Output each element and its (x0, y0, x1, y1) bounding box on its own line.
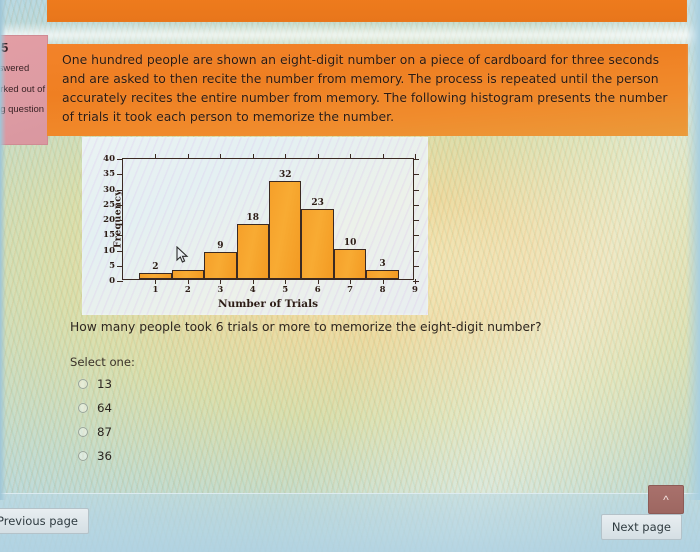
y-tick-label: 25 (103, 200, 115, 210)
previous-question-block (47, 0, 687, 22)
y-tick (117, 190, 123, 191)
x-tick-label: 1 (152, 285, 158, 295)
x-tick (415, 279, 416, 284)
y-tick (117, 235, 123, 236)
histogram-bar (237, 224, 269, 279)
option-label-0: 13 (97, 377, 112, 391)
question-prompt: How many people took 6 trials or more to… (70, 320, 542, 334)
x-tick (285, 279, 286, 284)
question-number: 5 (0, 41, 43, 55)
flag-question-link[interactable]: Flag question (0, 105, 43, 115)
x-tick-label: 7 (347, 285, 353, 295)
histogram-bar (204, 252, 236, 279)
y-tick (117, 220, 123, 221)
histogram-bar (334, 249, 366, 280)
y-tick-label: 10 (103, 246, 115, 256)
option-row-2[interactable]: 87 (78, 425, 112, 439)
y-tick-right (413, 220, 419, 221)
option-label-1: 64 (97, 401, 112, 415)
y-tick (117, 251, 123, 252)
x-tick (155, 279, 156, 284)
y-tick-label: 5 (109, 261, 115, 271)
y-tick (117, 266, 123, 267)
radio-option-3[interactable] (78, 451, 88, 461)
option-row-3[interactable]: 36 (78, 449, 112, 463)
histogram-bar (301, 209, 333, 279)
chevron-up-icon: ^ (663, 494, 669, 506)
y-tick-label: 15 (103, 230, 115, 240)
radio-option-0[interactable] (78, 379, 88, 389)
bar-value-label: 18 (247, 213, 260, 223)
x-tick-label: 6 (315, 285, 321, 295)
x-tick-top (285, 154, 286, 159)
histogram-bar (366, 270, 398, 279)
bar-value-label: 23 (311, 198, 324, 208)
y-tick (117, 281, 123, 282)
histogram-image: Frequency Number of Trials 0510152025303… (82, 137, 428, 315)
bar-value-label: 10 (344, 238, 357, 248)
x-tick-top (188, 154, 189, 159)
histogram-bar (172, 270, 204, 279)
y-tick-label: 35 (103, 169, 115, 179)
question-status: Answered (0, 64, 43, 74)
x-tick-top (415, 154, 416, 159)
x-tick (318, 279, 319, 284)
radio-option-2[interactable] (78, 427, 88, 437)
y-tick-right (413, 281, 419, 282)
x-tick (383, 279, 384, 284)
y-tick-label: 30 (103, 185, 115, 195)
radio-option-1[interactable] (78, 403, 88, 413)
x-tick-top (220, 154, 221, 159)
y-tick-right (413, 205, 419, 206)
x-tick-top (155, 154, 156, 159)
option-row-1[interactable]: 64 (78, 401, 112, 415)
bottom-navigation-bar: Previous page Next page ^ (0, 493, 700, 552)
x-tick-label: 9 (412, 285, 418, 295)
x-tick-top (350, 154, 351, 159)
y-tick-right (413, 251, 419, 252)
option-label-3: 36 (97, 449, 112, 463)
option-row-0[interactable]: 13 (78, 377, 112, 391)
y-tick-label: 40 (103, 154, 115, 164)
y-tick (117, 205, 123, 206)
option-label-2: 87 (97, 425, 112, 439)
y-tick (117, 159, 123, 160)
x-tick (253, 279, 254, 284)
question-stem: One hundred people are shown an eight-di… (62, 50, 672, 126)
y-tick-right (413, 235, 419, 236)
x-tick (188, 279, 189, 284)
bar-value-label: 32 (279, 170, 292, 180)
x-axis-title: Number of Trials (218, 298, 318, 310)
x-tick-label: 4 (250, 285, 256, 295)
y-tick-label: 20 (103, 215, 115, 225)
x-tick-label: 8 (380, 285, 386, 295)
y-tick (117, 174, 123, 175)
question-marks: Marked out of 6.00 (0, 85, 43, 95)
x-tick-label: 3 (217, 285, 223, 295)
y-tick-label: 0 (109, 276, 115, 286)
histogram-bar (269, 181, 301, 279)
bar-value-label: 3 (379, 259, 385, 269)
histogram-bar (139, 273, 171, 279)
next-page-button[interactable]: Next page (601, 514, 682, 540)
y-tick-right (413, 190, 419, 191)
x-tick-top (318, 154, 319, 159)
bar-value-label: 2 (152, 262, 158, 272)
y-tick-right (413, 174, 419, 175)
y-tick-right (413, 159, 419, 160)
x-tick (350, 279, 351, 284)
x-tick (220, 279, 221, 284)
scroll-to-top-button[interactable]: ^ (648, 485, 684, 514)
x-tick-label: 5 (282, 285, 288, 295)
x-tick-top (383, 154, 384, 159)
bar-value-label: 9 (217, 241, 223, 251)
x-tick-label: 2 (185, 285, 191, 295)
histogram-plot-area: Frequency Number of Trials 0510152025303… (122, 158, 414, 280)
x-tick-top (253, 154, 254, 159)
select-one-label: Select one: (70, 355, 135, 369)
question-info-panel: 5 Answered Marked out of 6.00 Flag quest… (0, 35, 48, 145)
y-tick-right (413, 266, 419, 267)
previous-page-button[interactable]: Previous page (0, 508, 89, 534)
